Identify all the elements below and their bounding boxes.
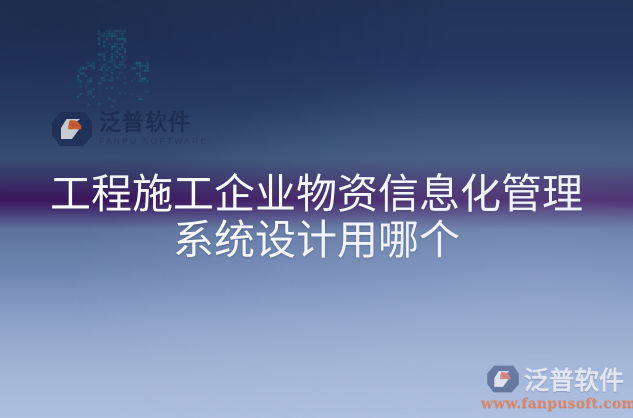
- watermark-logo-row: 泛普软件: [481, 361, 629, 397]
- watermark-url: www.fanpusoft.com: [481, 396, 629, 412]
- watermark-name-cn: 泛普软件: [524, 361, 624, 397]
- page-title-line-2: 系统设计用哪个: [0, 218, 633, 264]
- pixel-skyline-graphic: [70, 26, 156, 108]
- fanpu-logo-mark-icon: [52, 110, 92, 148]
- promo-banner: 泛普软件 FANPU SOFTWARE 工程施工企业物资信息化管理 系统设计用哪…: [0, 0, 633, 418]
- brand-name-cn: 泛普软件: [99, 112, 208, 134]
- page-title-line-1: 工程施工企业物资信息化管理: [0, 172, 633, 218]
- watermark: 泛普软件 www.fanpusoft.com: [481, 361, 629, 412]
- brand-wordmark: 泛普软件 FANPU SOFTWARE: [99, 112, 208, 146]
- brand-name-en: FANPU SOFTWARE: [99, 137, 208, 146]
- brand-logo: 泛普软件 FANPU SOFTWARE: [52, 110, 208, 148]
- pixel-skyline-canvas: [70, 26, 156, 108]
- fanpu-watermark-mark-icon: [486, 364, 520, 394]
- page-title: 工程施工企业物资信息化管理 系统设计用哪个: [0, 172, 633, 264]
